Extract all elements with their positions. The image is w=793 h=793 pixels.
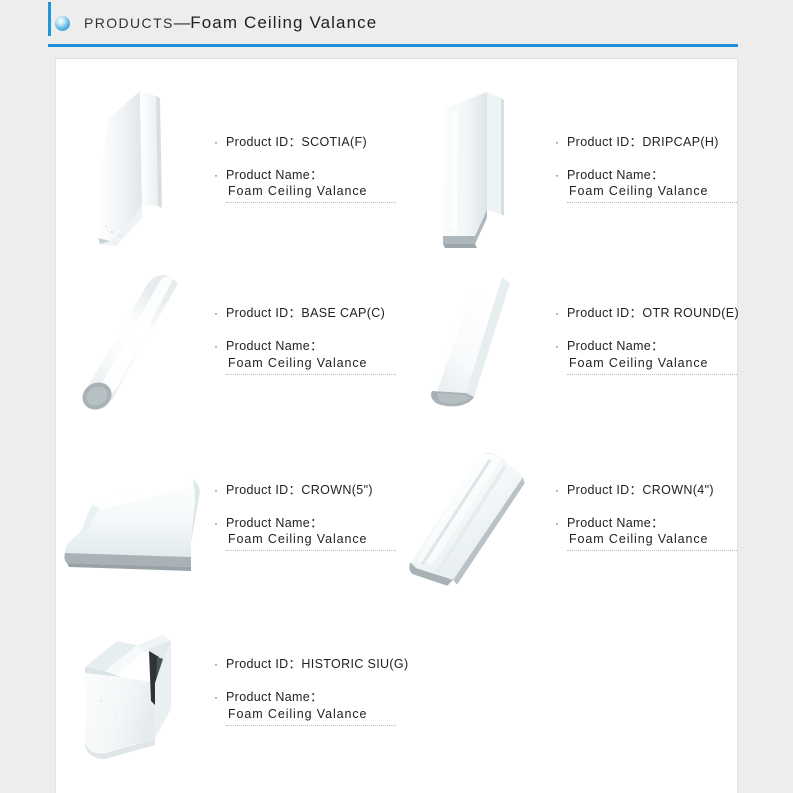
product-id-value: CROWN(4") — [642, 483, 713, 497]
product-name-value: Foam Ceiling Valance — [567, 531, 708, 548]
product-image-scotia — [56, 86, 206, 251]
product-id-line: · Product ID：BASE CAP(C) — [214, 305, 397, 322]
product-image-historic-siu — [56, 621, 206, 761]
product-id-value: OTR ROUND(E) — [642, 306, 739, 320]
product-name-label: Product Name： — [226, 690, 323, 704]
product-id-label: Product ID： — [226, 306, 301, 320]
product-name-line: · Product Name： Foam Ceiling Valance — [555, 167, 738, 201]
product-row: · Product ID：CROWN(5") · Product Name： F… — [56, 429, 739, 604]
product-name-line: · Product Name： Foam Ceiling Valance — [214, 167, 397, 201]
product-name-line: · Product Name： Foam Ceiling Valance — [555, 515, 738, 549]
product-cell-crown-5in[interactable]: · Product ID：CROWN(5") · Product Name： F… — [56, 429, 397, 604]
list-bullet: · — [214, 134, 226, 150]
list-bullet: · — [555, 305, 567, 321]
product-id-label: Product ID： — [226, 135, 301, 149]
list-bullet: · — [214, 338, 226, 354]
dotted-underline — [226, 202, 396, 203]
product-name-line: · Product Name： Foam Ceiling Valance — [555, 338, 739, 372]
product-name-block: Product Name： Foam Ceiling Valance — [567, 167, 708, 201]
product-id-value: SCOTIA(F) — [301, 135, 367, 149]
list-bullet: · — [214, 515, 226, 531]
product-name-block: Product Name： Foam Ceiling Valance — [226, 167, 367, 201]
dotted-underline — [226, 725, 396, 726]
product-id-label: Product ID： — [567, 135, 642, 149]
product-image-otr-round — [397, 265, 547, 415]
product-name-line: · Product Name： Foam Ceiling Valance — [214, 689, 409, 723]
product-name-label: Product Name： — [567, 339, 664, 353]
product-cell-base-cap[interactable]: · Product ID：BASE CAP(C) · Product Name：… — [56, 256, 397, 424]
product-name-block: Product Name： Foam Ceiling Valance — [226, 515, 367, 549]
product-name-value: Foam Ceiling Valance — [226, 706, 367, 723]
page-title-dash: — — [174, 14, 191, 32]
products-card: · Product ID：SCOTIA(F) · Product Name： F… — [55, 58, 738, 793]
product-info-crown-4in: · Product ID：CROWN(4") · Product Name： F… — [547, 482, 738, 552]
product-id-text: Product ID：BASE CAP(C) — [226, 305, 385, 322]
product-cell-crown-4in[interactable]: · Product ID：CROWN(4") · Product Name： F… — [397, 429, 738, 604]
page-title-name: Foam Ceiling Valance — [190, 13, 377, 32]
dripcap-flat-molding-icon — [417, 86, 527, 251]
product-name-line: · Product Name： Foam Ceiling Valance — [214, 515, 397, 549]
product-name-label: Product Name： — [226, 168, 323, 182]
dotted-underline — [567, 374, 737, 375]
scotia-cove-molding-icon — [76, 86, 186, 251]
product-id-value: DRIPCAP(H) — [642, 135, 718, 149]
dotted-underline — [567, 550, 737, 551]
product-id-text: Product ID：HISTORIC SIU(G) — [226, 656, 409, 673]
header-divider-rule — [48, 44, 738, 47]
list-bullet: · — [214, 656, 226, 672]
product-name-value: Foam Ceiling Valance — [567, 355, 708, 372]
product-id-line: · Product ID：OTR ROUND(E) — [555, 305, 739, 322]
page-title-kicker: PRODUCTS — [84, 15, 174, 31]
product-name-label: Product Name： — [226, 516, 323, 530]
product-id-text: Product ID：CROWN(4") — [567, 482, 714, 499]
product-row: · Product ID：BASE CAP(C) · Product Name：… — [56, 256, 739, 424]
product-id-line: · Product ID：HISTORIC SIU(G) — [214, 656, 409, 673]
list-bullet: · — [214, 482, 226, 498]
product-id-label: Product ID： — [226, 483, 301, 497]
product-name-block: Product Name： Foam Ceiling Valance — [567, 515, 708, 549]
product-id-text: Product ID：CROWN(5") — [226, 482, 373, 499]
product-cell-otr-round[interactable]: · Product ID：OTR ROUND(E) · Product Name… — [397, 256, 738, 424]
historic-siu-block-icon — [71, 621, 191, 761]
list-bullet: · — [555, 134, 567, 150]
product-info-base-cap: · Product ID：BASE CAP(C) · Product Name：… — [206, 305, 397, 375]
product-id-text: Product ID：SCOTIA(F) — [226, 134, 367, 151]
header-accent-bar — [48, 2, 51, 36]
list-bullet: · — [555, 515, 567, 531]
product-id-line: · Product ID：SCOTIA(F) — [214, 134, 397, 151]
product-id-label: Product ID： — [567, 306, 642, 320]
list-bullet: · — [555, 338, 567, 354]
product-info-scotia: · Product ID：SCOTIA(F) · Product Name： F… — [206, 134, 397, 204]
product-image-base-cap — [56, 265, 206, 415]
product-id-text: Product ID：OTR ROUND(E) — [567, 305, 739, 322]
product-image-crown-4in — [397, 442, 547, 592]
product-id-value: BASE CAP(C) — [301, 306, 385, 320]
page-title: PRODUCTS—Foam Ceiling Valance — [84, 13, 377, 33]
page-header: PRODUCTS—Foam Ceiling Valance — [48, 0, 738, 46]
product-id-value: CROWN(5") — [301, 483, 372, 497]
product-name-block: Product Name： Foam Ceiling Valance — [226, 338, 367, 372]
product-catalog-page: PRODUCTS—Foam Ceiling Valance — [0, 0, 793, 793]
product-info-historic-siu: · Product ID：HISTORIC SIU(G) · Product N… — [206, 656, 409, 726]
product-cell-dripcap[interactable]: · Product ID：DRIPCAP(H) · Product Name： … — [397, 81, 738, 256]
list-bullet: · — [555, 482, 567, 498]
bullet-circle-icon — [55, 16, 70, 31]
product-id-line: · Product ID：DRIPCAP(H) — [555, 134, 738, 151]
product-id-label: Product ID： — [567, 483, 642, 497]
product-name-block: Product Name： Foam Ceiling Valance — [226, 689, 367, 723]
product-id-label: Product ID： — [226, 657, 301, 671]
product-id-line: · Product ID：CROWN(4") — [555, 482, 738, 499]
product-image-crown-5in — [56, 457, 206, 577]
product-row: · Product ID：SCOTIA(F) · Product Name： F… — [56, 81, 739, 256]
list-bullet: · — [555, 167, 567, 183]
product-row: · Product ID：HISTORIC SIU(G) · Product N… — [56, 611, 739, 771]
product-id-text: Product ID：DRIPCAP(H) — [567, 134, 719, 151]
product-name-value: Foam Ceiling Valance — [567, 183, 708, 200]
dotted-underline — [567, 202, 737, 203]
crown-4in-molding-icon — [397, 442, 547, 592]
product-name-value: Foam Ceiling Valance — [226, 183, 367, 200]
product-name-label: Product Name： — [567, 168, 664, 182]
product-id-value: HISTORIC SIU(G) — [301, 657, 408, 671]
list-bullet: · — [214, 689, 226, 705]
product-info-otr-round: · Product ID：OTR ROUND(E) · Product Name… — [547, 305, 739, 375]
list-bullet: · — [214, 167, 226, 183]
product-name-block: Product Name： Foam Ceiling Valance — [567, 338, 708, 372]
dotted-underline — [226, 374, 396, 375]
product-name-value: Foam Ceiling Valance — [226, 531, 367, 548]
product-name-value: Foam Ceiling Valance — [226, 355, 367, 372]
base-cap-bullnose-molding-icon — [66, 265, 196, 415]
product-id-line: · Product ID：CROWN(5") — [214, 482, 397, 499]
product-name-line: · Product Name： Foam Ceiling Valance — [214, 338, 397, 372]
crown-5in-molding-icon — [57, 457, 205, 577]
product-cell-scotia[interactable]: · Product ID：SCOTIA(F) · Product Name： F… — [56, 81, 397, 256]
product-image-dripcap — [397, 86, 547, 251]
product-info-crown-5in: · Product ID：CROWN(5") · Product Name： F… — [206, 482, 397, 552]
outer-round-molding-icon — [410, 265, 535, 415]
product-info-dripcap: · Product ID：DRIPCAP(H) · Product Name： … — [547, 134, 738, 204]
product-name-label: Product Name： — [226, 339, 323, 353]
list-bullet: · — [214, 305, 226, 321]
product-cell-empty — [397, 611, 738, 771]
product-name-label: Product Name： — [567, 516, 664, 530]
product-cell-historic-siu[interactable]: · Product ID：HISTORIC SIU(G) · Product N… — [56, 611, 397, 771]
dotted-underline — [226, 550, 396, 551]
